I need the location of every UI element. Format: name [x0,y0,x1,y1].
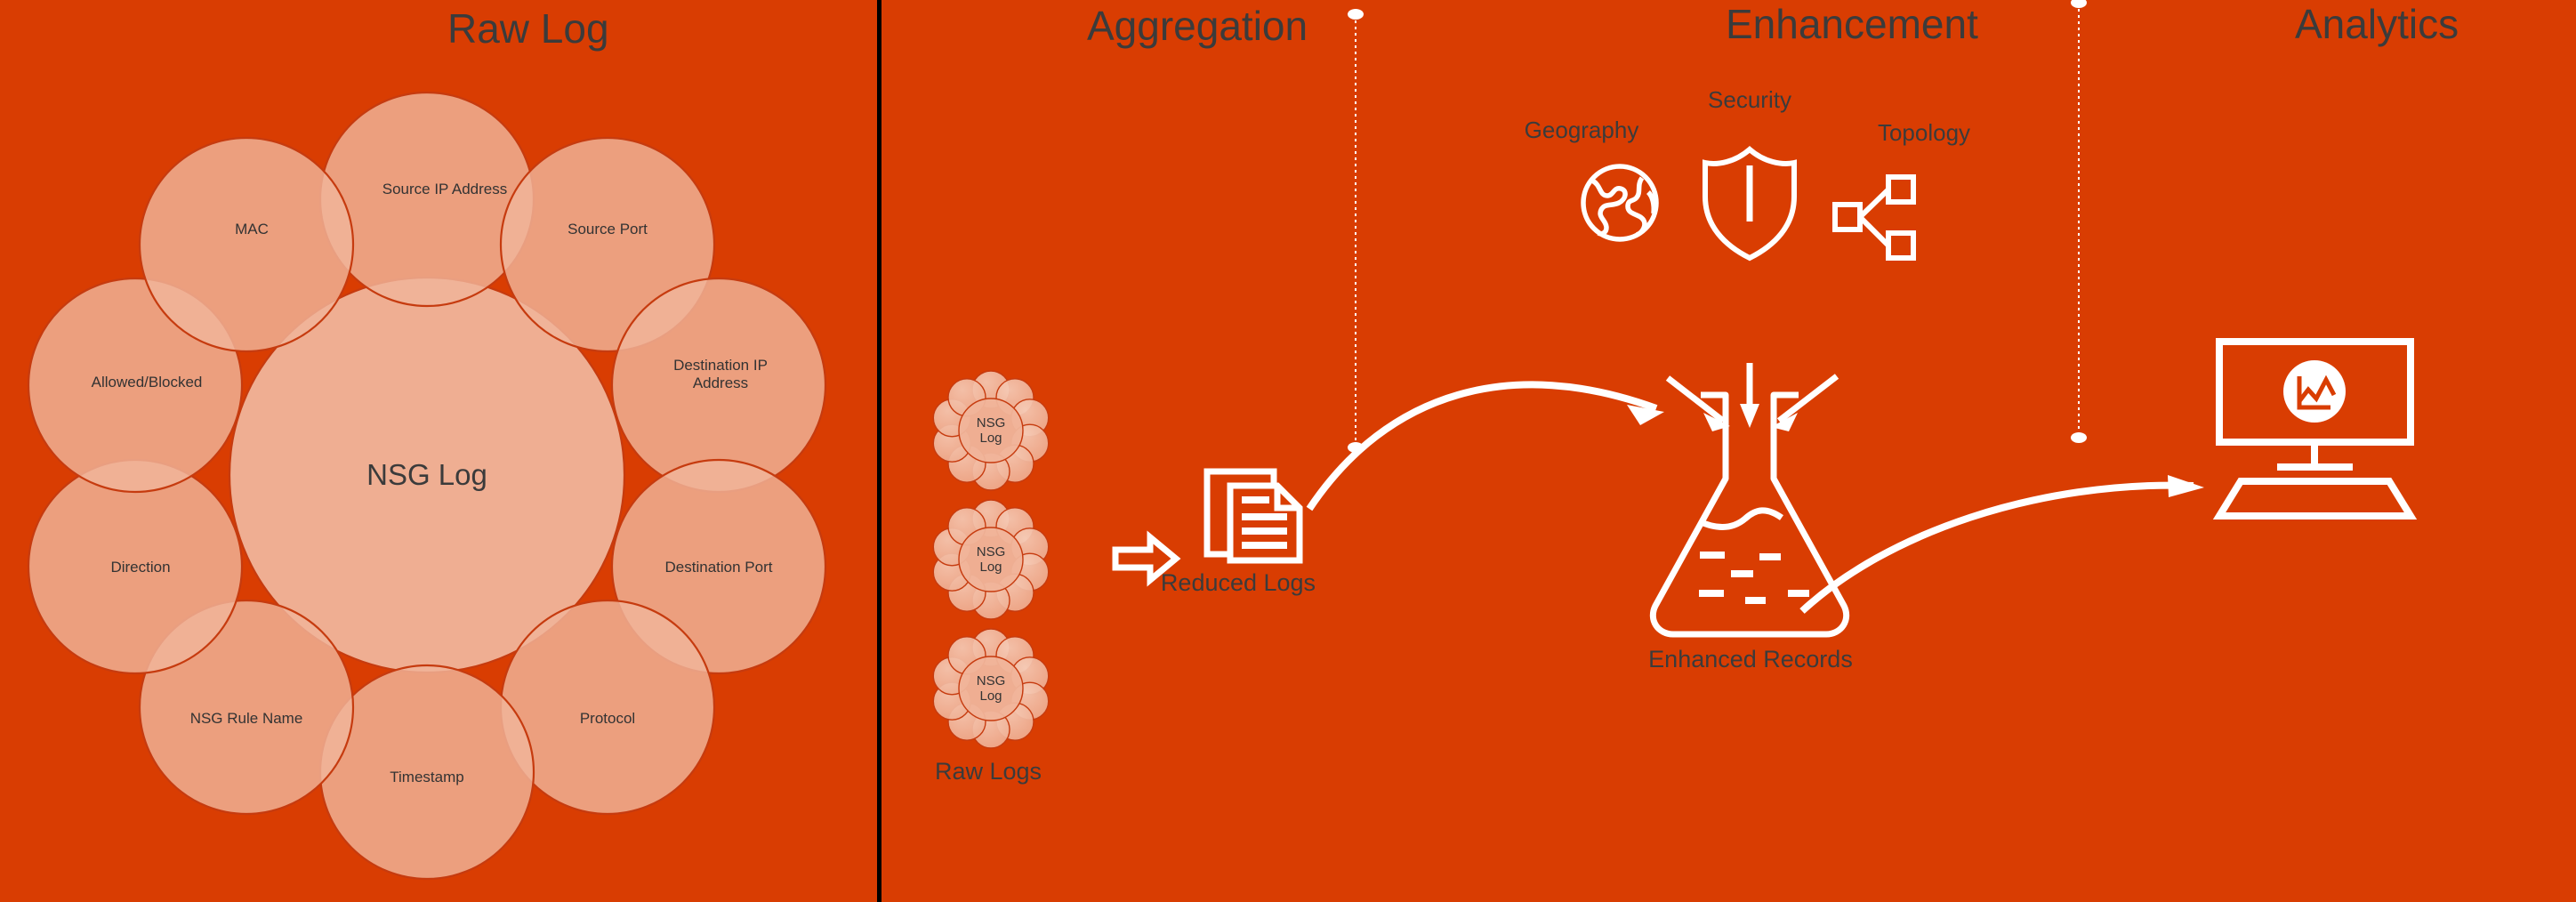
cluster-center-circle [959,656,1023,721]
dotted-divider-endpoint [1348,9,1364,20]
panel-title-enhancement: Enhancement [1726,0,1978,48]
nsg-log-clusters [933,371,1048,748]
venn-petal-circle [140,138,353,351]
panel-divider-black [877,0,881,902]
monitor-chart-icon [2219,342,2411,516]
nsg-log-cluster [933,371,1048,490]
dotted-divider-endpoint [2071,0,2087,8]
enhanced-records-label: Enhanced Records [1648,646,1853,673]
panel-title-raw-log: Raw Log [447,4,609,52]
shield-icon [1705,149,1794,258]
venn-petal-circle [320,93,534,306]
cluster-center-circle [959,528,1023,592]
dotted-divider-endpoint [2071,432,2087,443]
raw-logs-label: Raw Logs [935,758,1042,785]
dotted-dividers [1348,0,2087,453]
curve-arrow-to-analytics [1802,475,2204,611]
topology-label: Topology [1878,119,1970,147]
cluster-center-circle [959,399,1023,463]
geography-label: Geography [1525,117,1639,144]
globe-icon [1583,166,1656,239]
diagram-canvas: Raw Log Aggregation Enhancement Analytic… [0,0,2576,902]
panel-title-aggregation: Aggregation [1087,2,1308,50]
security-label: Security [1708,86,1791,114]
topology-icon [1835,177,1913,258]
dotted-divider-endpoint [1348,442,1364,453]
enhancement-input-arrows [1668,363,1837,431]
documents-stack-icon [1207,471,1300,560]
nsg-log-cluster [933,500,1048,619]
panel-title-analytics: Analytics [2295,0,2459,48]
nsg-log-cluster [933,629,1048,748]
diagram-graphics [0,0,2576,902]
reduced-logs-label: Reduced Logs [1161,569,1316,597]
venn-diagram [28,93,825,879]
